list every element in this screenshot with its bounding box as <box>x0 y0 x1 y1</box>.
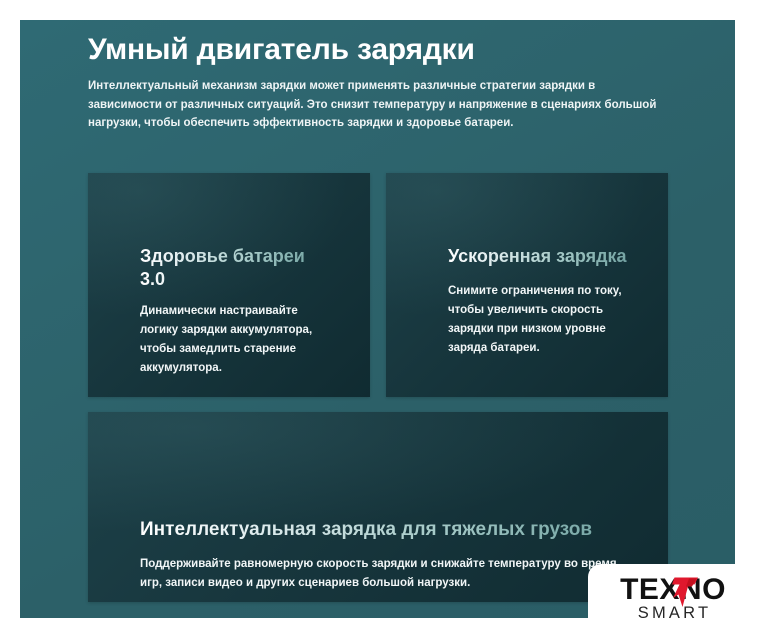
logo-lockup: TEXNO SMART <box>588 573 758 623</box>
lightning-bolt-t-icon <box>665 572 705 612</box>
intro-paragraph: Интеллектуальный механизм зарядки может … <box>88 77 668 133</box>
feature-card-heavy-load-charging[interactable]: Интеллектуальная зарядка для тяжелых гру… <box>88 412 668 602</box>
card-title: Здоровье батареи 3.0 <box>140 245 320 290</box>
card-title: Ускоренная зарядка <box>448 245 630 268</box>
texno-smart-logo: TEXNO SMART <box>588 564 758 640</box>
feature-card-battery-health[interactable]: Здоровье батареи 3.0 Динамически настраи… <box>88 173 370 397</box>
content-panel: Умный двигатель зарядки Интеллектуальный… <box>20 20 735 618</box>
card-description: Снимите ограничения по току, чтобы увели… <box>448 282 623 358</box>
page-title: Умный двигатель зарядки <box>88 32 475 68</box>
feature-card-fast-charging[interactable]: Ускоренная зарядка Снимите ограничения п… <box>386 173 668 397</box>
card-description: Динамически настраивайте логику зарядки … <box>140 302 320 378</box>
card-content: Интеллектуальная зарядка для тяжелых гру… <box>88 518 668 593</box>
card-content: Здоровье батареи 3.0 Динамически настраи… <box>88 245 370 378</box>
card-content: Ускоренная зарядка Снимите ограничения п… <box>386 245 668 358</box>
card-description: Поддерживайте равномерную скорость заряд… <box>140 555 628 593</box>
card-title: Интеллектуальная зарядка для тяжелых гру… <box>140 518 628 542</box>
